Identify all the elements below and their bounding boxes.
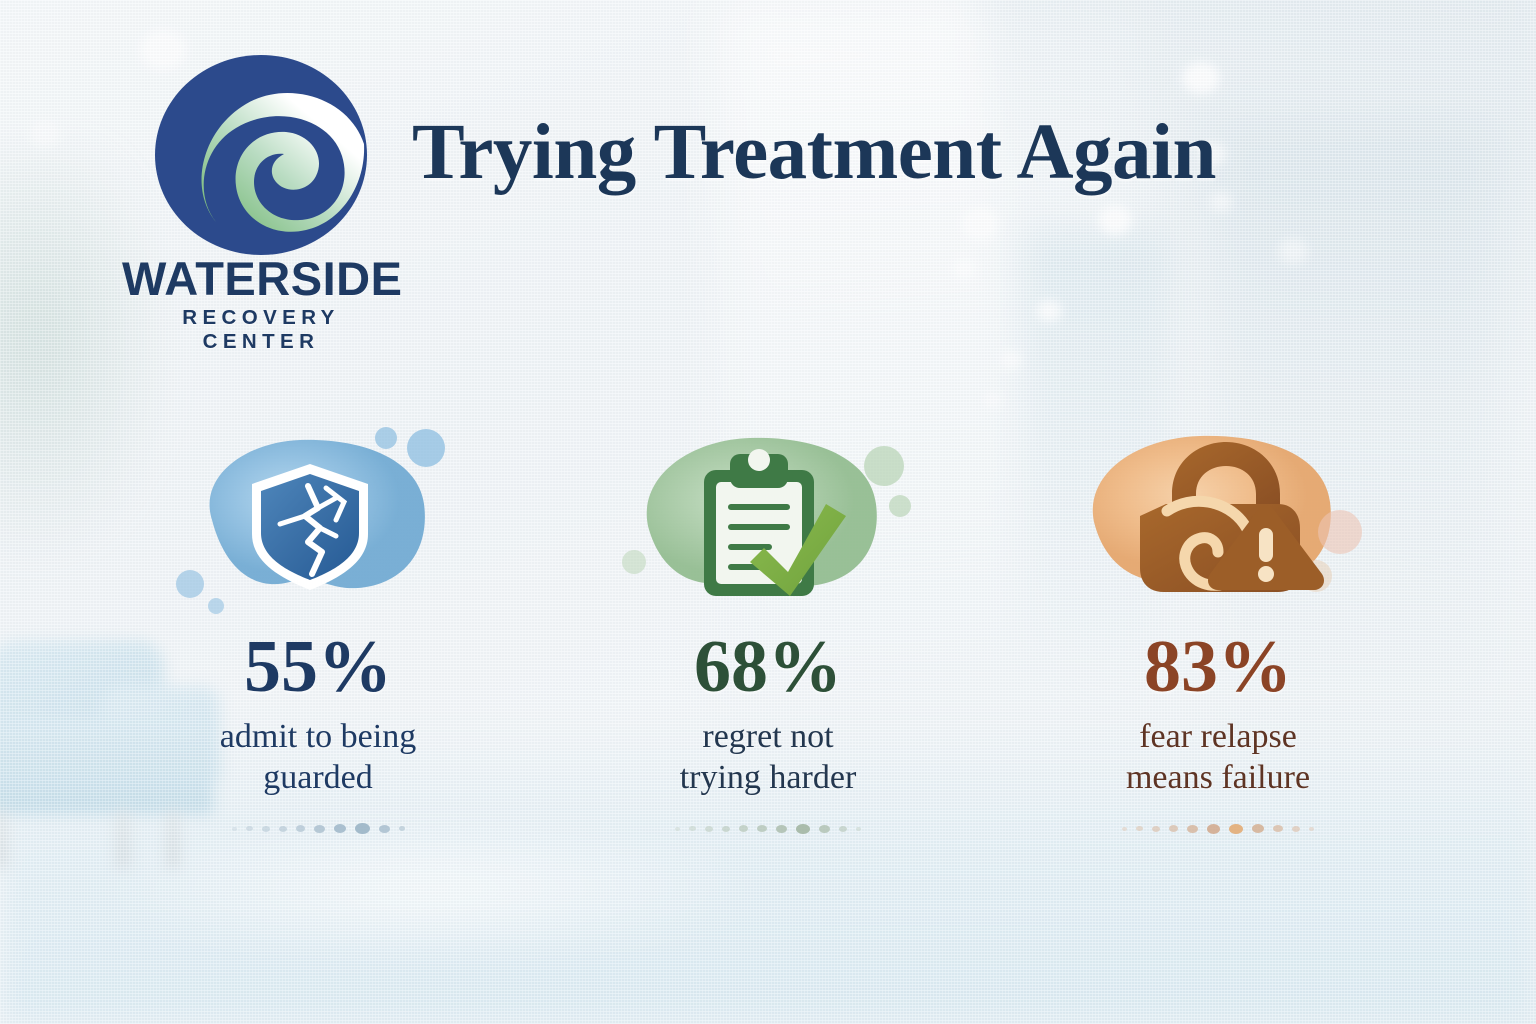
stat-icon-blob xyxy=(153,424,483,624)
padlock-spiral-warning-icon xyxy=(1068,424,1368,620)
stat-caption-line2: trying harder xyxy=(603,757,933,798)
stat-caption-line1: regret not xyxy=(603,716,933,757)
cracked-shield-icon xyxy=(168,424,468,620)
stat-caption: regret not trying harder xyxy=(603,716,933,799)
stat-icon-blob xyxy=(1053,424,1383,624)
brand-tagline: RECOVERY CENTER xyxy=(122,306,400,354)
wave-circle-logo-icon xyxy=(136,52,386,262)
stat-caption: admit to being guarded xyxy=(153,716,483,799)
stat-value: 55% xyxy=(153,630,483,704)
stat-card-guarded: 55% admit to being guarded xyxy=(153,424,483,837)
infographic-content: WATERSIDE RECOVERY CENTER Trying Treatme… xyxy=(0,0,1536,1024)
page-title: Trying Treatment Again xyxy=(412,108,1216,198)
stat-card-regret: 68% regret not trying harder xyxy=(603,424,933,837)
stat-divider-dots xyxy=(603,821,933,837)
stat-card-fear-relapse: 83% fear relapse means failure xyxy=(1053,424,1383,837)
stat-value: 83% xyxy=(1053,630,1383,704)
stat-caption: fear relapse means failure xyxy=(1053,716,1383,799)
stat-icon-blob xyxy=(603,424,933,624)
stat-caption-line2: guarded xyxy=(153,757,483,798)
clipboard-check-icon xyxy=(618,424,918,620)
brand-name: WATERSIDE xyxy=(122,256,400,301)
stat-divider-dots xyxy=(153,821,483,837)
stat-caption-line2: means failure xyxy=(1053,757,1383,798)
stat-caption-line1: admit to being xyxy=(153,716,483,757)
stat-divider-dots xyxy=(1053,821,1383,837)
stat-value: 68% xyxy=(603,630,933,704)
brand-logo: WATERSIDE RECOVERY CENTER xyxy=(122,52,400,354)
stat-caption-line1: fear relapse xyxy=(1053,716,1383,757)
stats-row: 55% admit to being guarded xyxy=(0,424,1536,837)
